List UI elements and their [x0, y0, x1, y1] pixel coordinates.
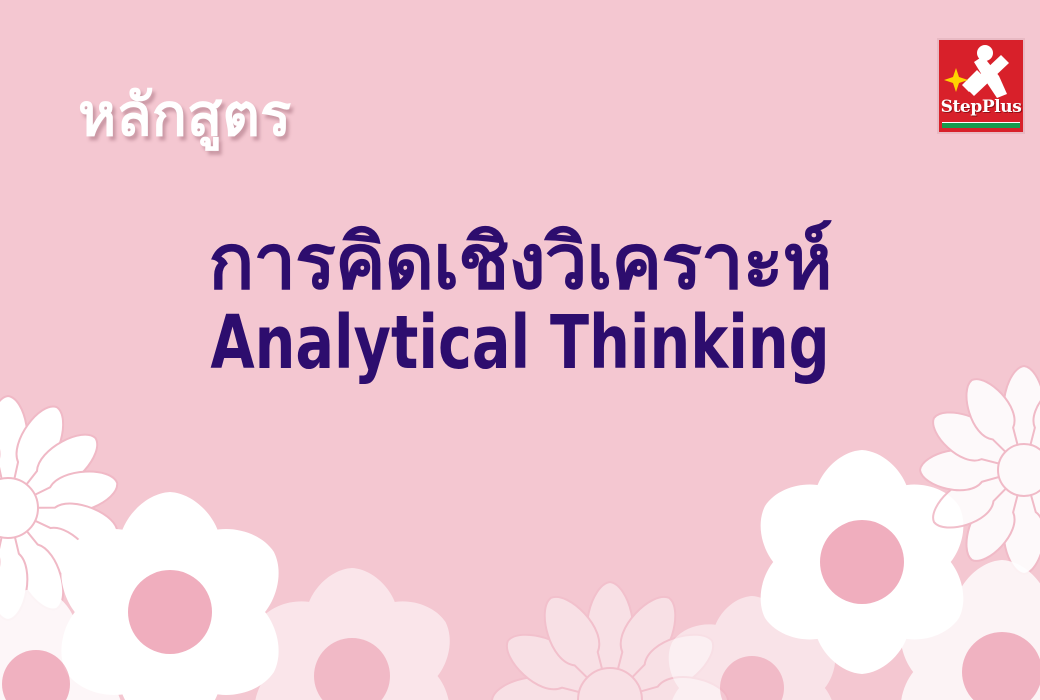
flower-petal	[119, 492, 221, 612]
flower-center	[998, 444, 1040, 496]
flower-petal	[531, 586, 630, 700]
flower-petal	[838, 465, 982, 603]
flower-petal	[1006, 370, 1040, 480]
flower-petal	[881, 631, 1025, 700]
flower-petal	[41, 568, 196, 700]
flower-petal	[881, 575, 1025, 700]
flower-center	[720, 656, 784, 700]
title-block: การคิดเชิงวิเคราะห์ Analytical Thinking	[0, 222, 1040, 381]
chrysanthemum-flower-right-edge	[920, 366, 1040, 574]
flower-petal	[0, 464, 12, 527]
flower-petal	[0, 493, 108, 593]
daisy-flower-center-right	[741, 450, 982, 674]
flower-center	[314, 638, 390, 700]
flower-petal	[0, 489, 12, 552]
flower-petal	[599, 680, 724, 700]
flower-petal	[955, 672, 1040, 700]
flower-petal	[955, 560, 1040, 672]
flower-center	[578, 668, 642, 700]
flower-petal	[590, 689, 689, 700]
logo-green-bar	[942, 122, 1020, 128]
flower-petal	[0, 423, 108, 523]
flower-petal	[496, 621, 621, 700]
stepplus-logo[interactable]: StepPlus	[937, 38, 1025, 134]
flower-center	[820, 520, 904, 604]
flower-petal	[610, 677, 728, 700]
daisy-flower-bottom-right	[881, 560, 1040, 700]
flower-petal	[4, 489, 122, 552]
flower-petal	[924, 400, 1034, 487]
flower-petal	[920, 450, 1024, 490]
chrysanthemum-flower-left	[0, 396, 121, 620]
flower-petal	[531, 689, 630, 700]
flower-petal	[978, 631, 1040, 700]
flower-petal	[653, 608, 772, 700]
chrysanthemum-flower-bottom-center	[492, 582, 728, 700]
flower-petal	[0, 500, 74, 618]
flower-petal	[0, 493, 20, 593]
flower-petal	[496, 680, 621, 700]
flower-petal	[1014, 452, 1040, 539]
daisy-flower-bottom-mid	[653, 596, 851, 700]
flower-petal	[16, 601, 140, 700]
daisy-flower-bottom-center-left	[236, 568, 469, 700]
page-title-thai: การคิดเชิงวิเคราะห์	[0, 222, 1040, 302]
flower-petal	[0, 649, 56, 700]
flower-petal	[599, 621, 724, 700]
page-title-english: Analytical Thinking	[73, 306, 967, 381]
flower-petal	[741, 465, 885, 603]
flower-petal	[0, 500, 25, 618]
flower-petal	[0, 601, 56, 700]
flower-center	[962, 632, 1040, 700]
flower-center	[0, 478, 38, 538]
flower-petal	[0, 684, 77, 700]
flower-petal	[0, 508, 27, 620]
flower-petal	[954, 370, 1040, 480]
flower-petal	[41, 508, 196, 656]
flower-petal	[1006, 460, 1040, 570]
flower-petal	[306, 568, 397, 676]
flower-petal	[1004, 470, 1040, 574]
flower-petal	[838, 521, 982, 659]
logo-wordmark: StepPlus	[939, 97, 1023, 117]
flower-petal	[0, 399, 25, 517]
flower-petal	[1014, 400, 1040, 487]
flower-petal	[0, 423, 20, 523]
flower-petal	[733, 608, 852, 700]
flower-petal	[713, 596, 791, 688]
flower-petal	[713, 688, 791, 700]
flower-petal	[329, 636, 468, 700]
flower-petal	[16, 649, 140, 700]
flower-petal	[978, 575, 1040, 700]
flower-petal	[815, 562, 910, 674]
flower-petal	[0, 399, 74, 517]
flower-petal	[145, 568, 300, 700]
flower-petal	[236, 636, 375, 700]
daisy-flower-lower-left	[41, 492, 300, 700]
flower-petal	[924, 452, 1034, 539]
flower-petal	[954, 460, 1040, 570]
flower-petal	[1004, 366, 1040, 470]
flower-petal	[587, 582, 633, 700]
flower-petal	[119, 612, 221, 700]
kicker-label: หลักสูตร	[78, 86, 291, 144]
flower-center	[2, 650, 70, 700]
daisy-flower-bottom-left-corner	[0, 588, 139, 700]
flower-center	[128, 570, 212, 654]
flower-petal	[306, 676, 397, 700]
flower-petal	[0, 396, 27, 508]
running-figure-icon	[939, 42, 1023, 100]
flower-petal	[0, 588, 77, 684]
flower-petal	[815, 450, 910, 562]
flower-petal	[653, 654, 772, 700]
flower-petal	[590, 586, 689, 700]
flower-petal	[741, 521, 885, 659]
flower-petal	[145, 508, 300, 656]
flower-petal	[4, 464, 122, 527]
flower-petal	[329, 582, 468, 700]
flower-petal	[492, 677, 610, 700]
flower-petal	[1024, 450, 1040, 490]
flower-petal	[236, 582, 375, 700]
flower-petal	[733, 654, 852, 700]
poster-canvas: StepPlus หลักสูตร การคิดเชิงวิเคราะห์ An…	[0, 0, 1040, 700]
